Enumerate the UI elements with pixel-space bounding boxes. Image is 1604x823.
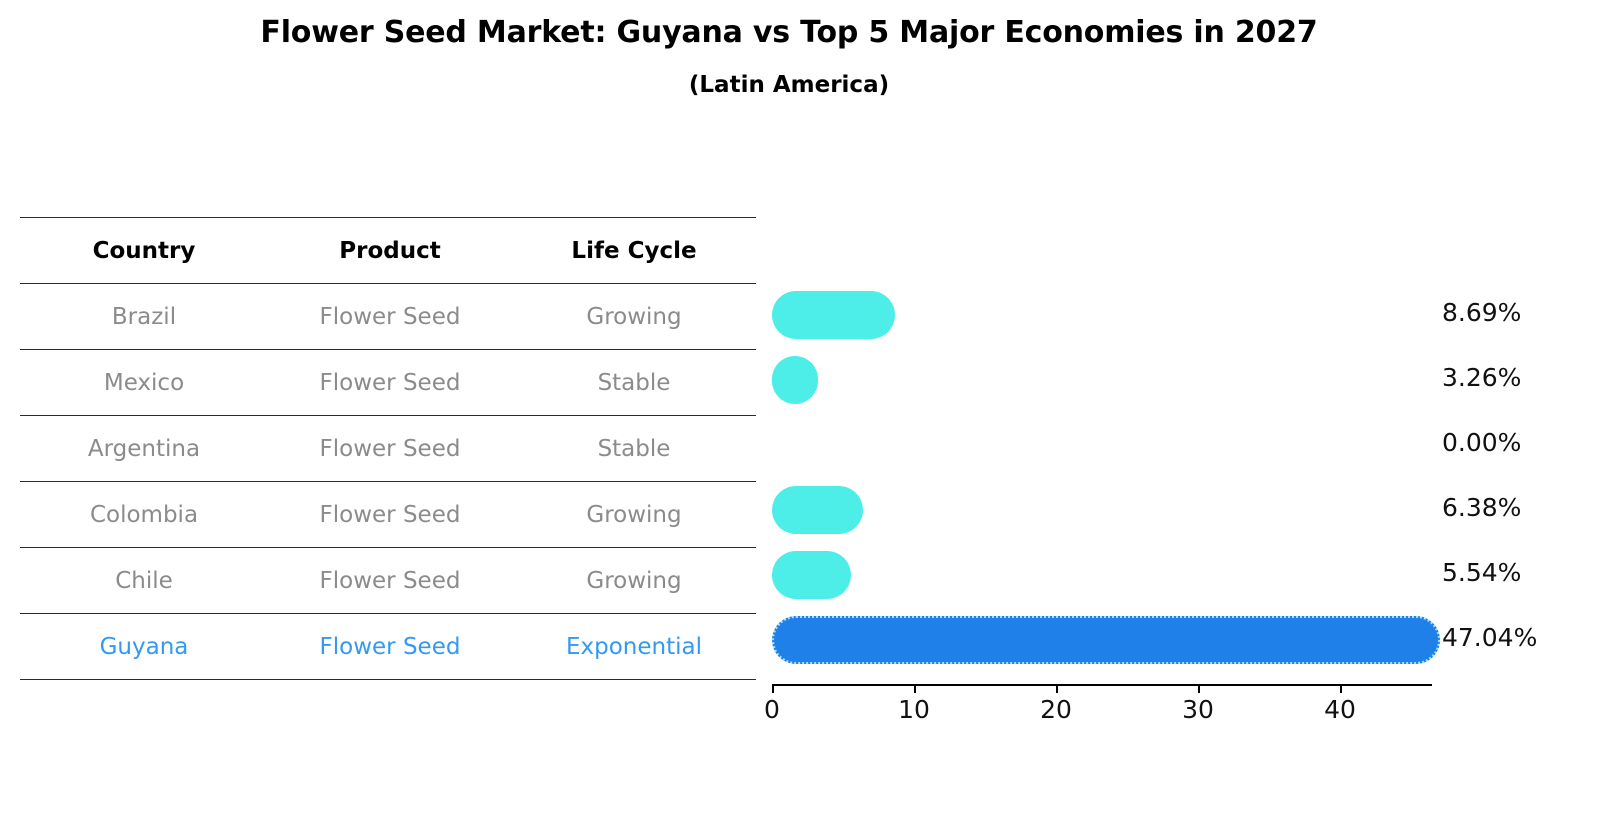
bar-value-label: 47.04% (1442, 623, 1537, 652)
bar-highlighted (772, 616, 1440, 664)
bar-value-label: 6.38% (1442, 493, 1521, 522)
bar-value-label: 8.69% (1442, 298, 1521, 327)
bar (772, 356, 818, 404)
x-axis-tick (772, 684, 774, 693)
chart-canvas: Flower Seed Market: Guyana vs Top 5 Majo… (0, 0, 1604, 823)
x-axis-tick (914, 684, 916, 693)
bar (772, 551, 851, 599)
x-axis-tick (1340, 684, 1342, 693)
bar (772, 486, 863, 534)
x-axis-line (772, 684, 1432, 686)
x-axis-tick (1198, 684, 1200, 693)
bars-layer: 8.69%3.26%0.00%6.38%5.54%47.04% (0, 0, 1604, 823)
x-axis-tick (1056, 684, 1058, 693)
bar-value-label: 5.54% (1442, 558, 1521, 587)
x-axis-tick-label: 30 (1182, 695, 1214, 724)
x-axis-tick-label: 20 (1040, 695, 1072, 724)
x-axis-tick-label: 40 (1324, 695, 1356, 724)
x-axis-tick-label: 10 (898, 695, 930, 724)
bar (772, 291, 895, 339)
bar-value-label: 0.00% (1442, 428, 1521, 457)
x-axis-tick-label: 0 (764, 695, 780, 724)
bar-value-label: 3.26% (1442, 363, 1521, 392)
